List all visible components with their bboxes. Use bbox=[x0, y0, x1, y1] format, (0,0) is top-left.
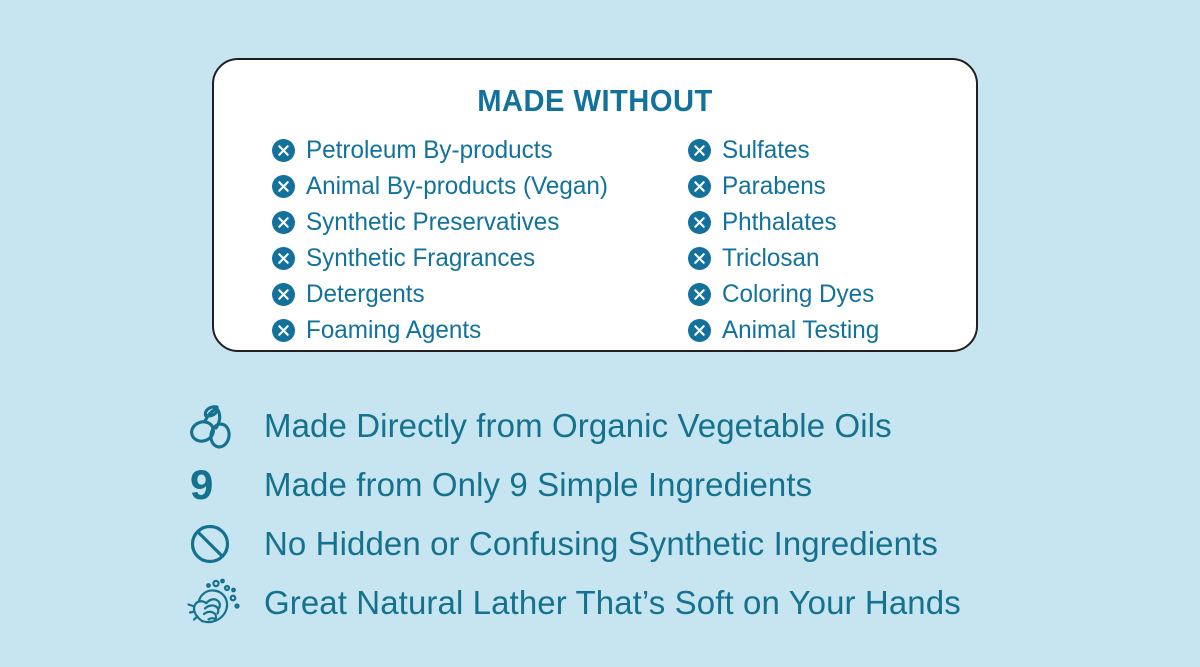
list-item: Coloring Dyes bbox=[688, 276, 976, 312]
olives-icon bbox=[186, 401, 264, 451]
list-item-label: Parabens bbox=[722, 173, 826, 199]
list-item: Synthetic Fragrances bbox=[272, 240, 688, 276]
card-title: MADE WITHOUT bbox=[237, 83, 953, 119]
feature-text: Great Natural Lather That’s Soft on Your… bbox=[264, 585, 961, 621]
list-item: Parabens bbox=[688, 168, 976, 204]
list-item-label: Animal By-products (Vegan) bbox=[306, 173, 608, 199]
list-item-label: Foaming Agents bbox=[306, 317, 481, 343]
list-item: Animal By-products (Vegan) bbox=[272, 168, 688, 204]
x-circle-icon bbox=[272, 175, 295, 198]
x-circle-icon bbox=[688, 139, 711, 162]
x-circle-icon bbox=[688, 175, 711, 198]
x-circle-icon bbox=[688, 319, 711, 342]
made-without-card: MADE WITHOUT Petroleum By-products Anima… bbox=[212, 58, 978, 352]
list-item: Animal Testing bbox=[688, 312, 976, 348]
list-item-label: Phthalates bbox=[722, 209, 837, 235]
x-circle-icon bbox=[272, 139, 295, 162]
list-item: Phthalates bbox=[688, 204, 976, 240]
made-without-columns: Petroleum By-products Animal By-products… bbox=[214, 132, 976, 348]
list-item-label: Animal Testing bbox=[722, 317, 879, 343]
list-item: Sulfates bbox=[688, 132, 976, 168]
x-circle-icon bbox=[688, 283, 711, 306]
number-nine-icon: 9 bbox=[186, 464, 264, 506]
list-item: Foaming Agents bbox=[272, 312, 688, 348]
list-item-label: Coloring Dyes bbox=[722, 281, 874, 307]
x-circle-icon bbox=[688, 247, 711, 270]
feature-text: Made Directly from Organic Vegetable Oil… bbox=[264, 408, 892, 444]
feature-text: Made from Only 9 Simple Ingredients bbox=[264, 467, 812, 503]
prohibition-icon bbox=[186, 519, 264, 569]
list-item: Triclosan bbox=[688, 240, 976, 276]
made-without-column-left: Petroleum By-products Animal By-products… bbox=[272, 132, 688, 348]
list-item-label: Synthetic Preservatives bbox=[306, 209, 559, 235]
x-circle-icon bbox=[688, 211, 711, 234]
list-item: Synthetic Preservatives bbox=[272, 204, 688, 240]
feature-row-nine-ingredients: 9 Made from Only 9 Simple Ingredients bbox=[186, 455, 1086, 514]
x-circle-icon bbox=[272, 211, 295, 234]
feature-row-organic-oils: Made Directly from Organic Vegetable Oil… bbox=[186, 396, 1086, 455]
list-item-label: Detergents bbox=[306, 281, 425, 307]
list-item-label: Petroleum By-products bbox=[306, 137, 553, 163]
number-nine-glyph: 9 bbox=[186, 464, 213, 506]
feature-row-natural-lather: Great Natural Lather That’s Soft on Your… bbox=[186, 573, 1086, 632]
list-item: Petroleum By-products bbox=[272, 132, 688, 168]
list-item: Detergents bbox=[272, 276, 688, 312]
x-circle-icon bbox=[272, 283, 295, 306]
x-circle-icon bbox=[272, 247, 295, 270]
x-circle-icon bbox=[272, 319, 295, 342]
list-item-label: Triclosan bbox=[722, 245, 819, 271]
made-without-column-right: Sulfates Parabens Phthalates Triclosan bbox=[688, 132, 976, 348]
feature-list: Made Directly from Organic Vegetable Oil… bbox=[186, 396, 1086, 632]
list-item-label: Synthetic Fragrances bbox=[306, 245, 535, 271]
washing-hands-icon bbox=[186, 576, 264, 630]
feature-text: No Hidden or Confusing Synthetic Ingredi… bbox=[264, 526, 938, 562]
list-item-label: Sulfates bbox=[722, 137, 810, 163]
feature-row-no-hidden-ingredients: No Hidden or Confusing Synthetic Ingredi… bbox=[186, 514, 1086, 573]
